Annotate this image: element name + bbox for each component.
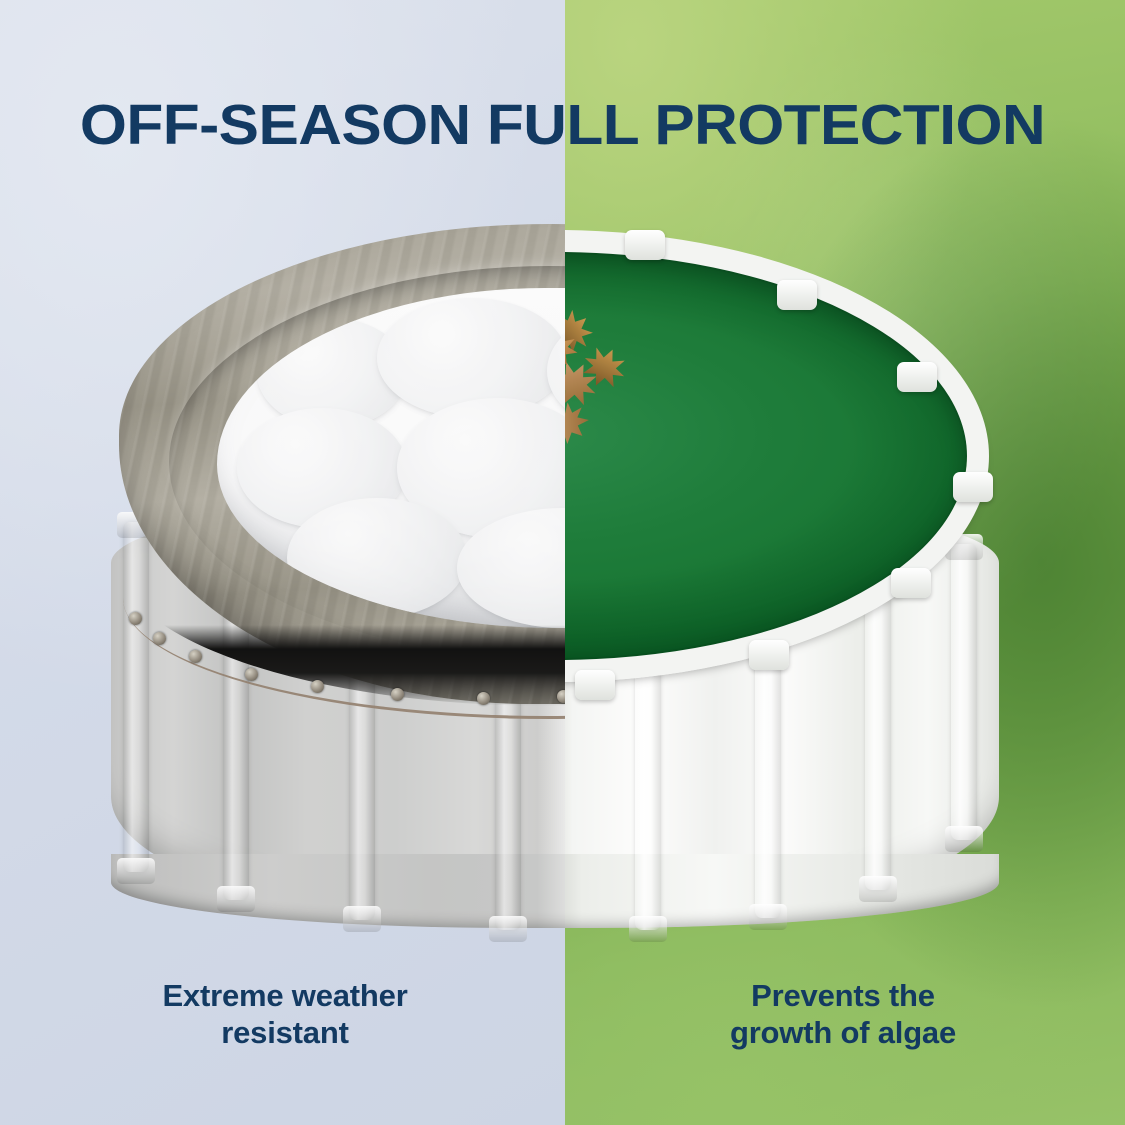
caption-right-line2: growth of algae xyxy=(608,1015,1078,1052)
grommet-icon xyxy=(391,688,404,701)
rail-joint xyxy=(777,280,817,310)
grommet-icon xyxy=(189,650,202,663)
pool-right-open xyxy=(565,226,1005,938)
rail-joint xyxy=(575,670,615,700)
grommet-icon xyxy=(129,612,142,625)
scene-left-clip xyxy=(0,0,565,1125)
caption-left-line1: Extreme weather xyxy=(50,978,520,1015)
rail-joint xyxy=(897,362,937,392)
rail-joint xyxy=(953,472,993,502)
grommet-icon xyxy=(477,692,490,705)
caption-left: Extreme weather resistant xyxy=(50,978,520,1051)
grommet-icon xyxy=(311,680,324,693)
caption-left-line2: resistant xyxy=(50,1015,520,1052)
promo-image: OFF-SEASON FULL PROTECTION Extreme weath… xyxy=(0,0,1125,1125)
scene-right-clip xyxy=(565,0,1125,1125)
rail-joint xyxy=(891,568,931,598)
caption-right: Prevents the growth of algae xyxy=(608,978,1078,1051)
pool-left-covered xyxy=(105,226,565,938)
grommet-icon xyxy=(153,632,166,645)
grommet-icon xyxy=(557,690,565,703)
page-title: OFF-SEASON FULL PROTECTION xyxy=(0,97,1125,154)
caption-right-line1: Prevents the xyxy=(608,978,1078,1015)
rail-joint xyxy=(749,640,789,670)
rail-joint xyxy=(625,230,665,260)
grommet-icon xyxy=(245,668,258,681)
